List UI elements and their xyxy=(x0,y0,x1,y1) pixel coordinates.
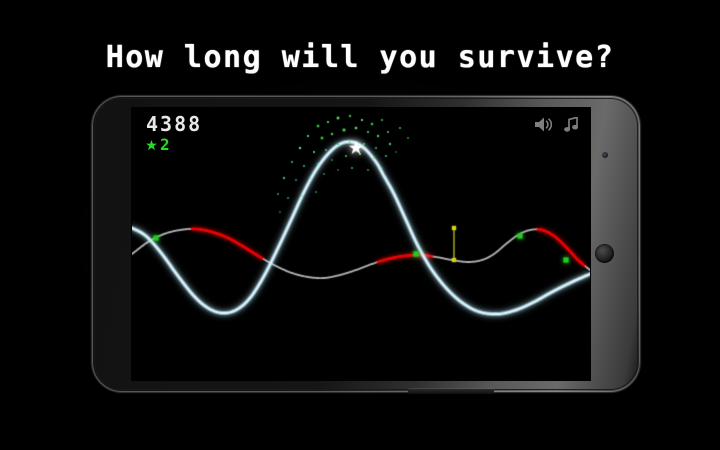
bottom-port xyxy=(408,389,494,394)
camera-lens-icon xyxy=(595,244,614,263)
promo-stage: How long will you survive? 4388 2 xyxy=(0,0,720,450)
game-screen[interactable]: 4388 2 xyxy=(132,108,590,380)
speaker-icon[interactable] xyxy=(535,117,552,132)
music-note-icon[interactable] xyxy=(564,117,578,132)
proximity-sensor-icon xyxy=(602,152,608,158)
smartphone-device: 4388 2 xyxy=(92,96,640,392)
game-canvas[interactable] xyxy=(132,108,590,380)
hud-icon-bar xyxy=(535,117,578,132)
promo-headline: How long will you survive? xyxy=(0,40,720,75)
